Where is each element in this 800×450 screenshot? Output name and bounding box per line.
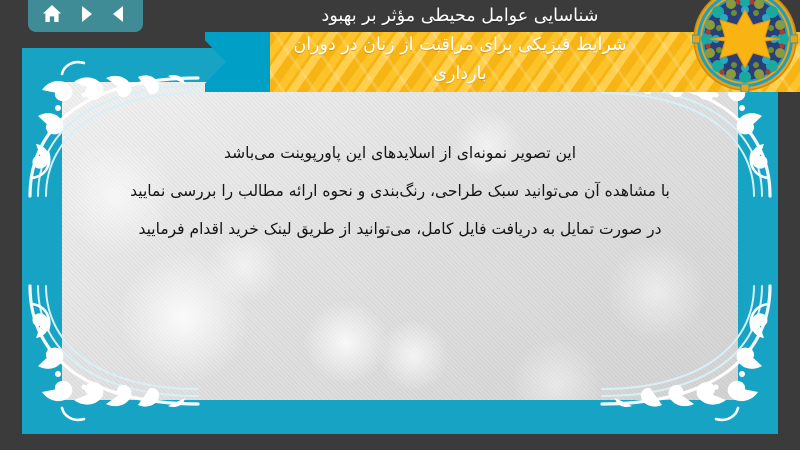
body-line-3: در صورت تمایل به دریافت فایل کامل، می‌تو… (92, 210, 708, 248)
page-title: شناسایی عوامل محیطی مؤثر بر بهبود شرایط … (210, 2, 710, 89)
home-button[interactable] (39, 1, 65, 27)
slide-preview-stage: این تصویر نمونه‌ای از اسلایدهای این پاور… (0, 0, 800, 450)
prev-slide-button[interactable] (106, 1, 132, 27)
body-line-1: این تصویر نمونه‌ای از اسلایدهای این پاور… (92, 134, 708, 172)
body-line-2: با مشاهده آن می‌توانید سبک طراحی، رنگ‌بن… (92, 172, 708, 210)
triangle-right-icon (76, 4, 96, 24)
slide-navigation-bar (28, 0, 143, 32)
slide-frame: این تصویر نمونه‌ای از اسلایدهای این پاور… (22, 48, 778, 434)
home-icon (41, 3, 63, 25)
islamic-medallion-icon (692, 0, 798, 92)
next-slide-button[interactable] (73, 1, 99, 27)
triangle-left-icon (109, 4, 129, 24)
slide-body-text: این تصویر نمونه‌ای از اسلایدهای این پاور… (92, 134, 708, 248)
